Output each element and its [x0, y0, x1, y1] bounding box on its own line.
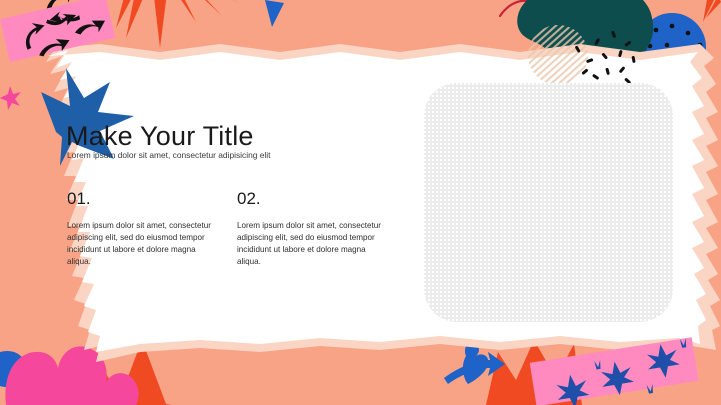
content-column-1: 01. Lorem ipsum dolor sit amet, consecte… [67, 190, 217, 268]
column-body-1: Lorem ipsum dolor sit amet, consectetur … [67, 220, 217, 268]
column-number-1: 01. [67, 190, 217, 207]
column-body-2: Lorem ipsum dolor sit amet, consectetur … [237, 220, 387, 268]
page-subtitle: Lorem ipsum dolor sit amet, consectetur … [67, 151, 270, 159]
column-number-2: 02. [237, 190, 387, 207]
slide-canvas: Make Your Title Lorem ipsum dolor sit am… [0, 0, 721, 405]
content-column-2: 02. Lorem ipsum dolor sit amet, consecte… [237, 190, 387, 268]
slide-content: Make Your Title Lorem ipsum dolor sit am… [0, 0, 721, 405]
page-title: Make Your Title [66, 123, 254, 150]
